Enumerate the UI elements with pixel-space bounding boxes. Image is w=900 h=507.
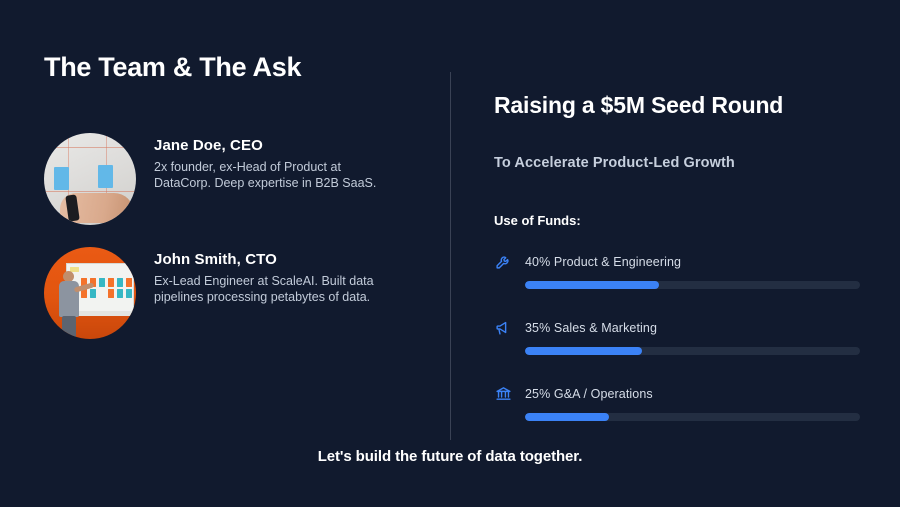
use-of-funds-label: Use of Funds:	[494, 213, 860, 228]
fund-progress-track	[525, 347, 860, 355]
column-divider	[450, 72, 451, 440]
fund-progress-track	[525, 281, 860, 289]
team-member: John Smith, CTO Ex-Lead Engineer at Scal…	[44, 247, 404, 339]
footer-tagline: Let's build the future of data together.	[0, 448, 900, 465]
ask-subtitle: To Accelerate Product-Led Growth	[494, 155, 860, 171]
team-member-text: John Smith, CTO Ex-Lead Engineer at Scal…	[154, 247, 386, 305]
fund-label: 40% Product & Engineering	[525, 255, 681, 269]
team-member-bio: Ex-Lead Engineer at ScaleAI. Built data …	[154, 273, 386, 305]
whiteboard-photo-icon	[44, 133, 136, 225]
fund-progress-fill	[525, 413, 609, 421]
fund-label: 35% Sales & Marketing	[525, 321, 657, 335]
fund-row: 35% Sales & Marketing	[494, 318, 860, 355]
megaphone-icon	[494, 318, 513, 337]
ask-title: Raising a $5M Seed Round	[494, 92, 860, 119]
team-section: Jane Doe, CEO 2x founder, ex-Head of Pro…	[44, 133, 404, 361]
team-member-text: Jane Doe, CEO 2x founder, ex-Head of Pro…	[154, 133, 386, 191]
fund-progress-track	[525, 413, 860, 421]
fund-row: 25% G&A / Operations	[494, 384, 860, 421]
bank-icon	[494, 384, 513, 403]
team-member-name: Jane Doe, CEO	[154, 137, 386, 154]
avatar	[44, 247, 136, 339]
workshop-photo-icon	[44, 247, 136, 339]
team-member-name: John Smith, CTO	[154, 251, 386, 268]
ask-section: Raising a $5M Seed Round To Accelerate P…	[494, 92, 860, 450]
fund-progress-fill	[525, 347, 642, 355]
team-member-bio: 2x founder, ex-Head of Product at DataCo…	[154, 159, 386, 191]
team-member: Jane Doe, CEO 2x founder, ex-Head of Pro…	[44, 133, 404, 225]
fund-progress-fill	[525, 281, 659, 289]
avatar	[44, 133, 136, 225]
page-title: The Team & The Ask	[44, 52, 301, 83]
fund-row: 40% Product & Engineering	[494, 252, 860, 289]
wrench-icon	[494, 252, 513, 271]
pitch-slide: The Team & The Ask Jane Doe, CEO	[0, 0, 900, 507]
fund-label: 25% G&A / Operations	[525, 387, 653, 401]
